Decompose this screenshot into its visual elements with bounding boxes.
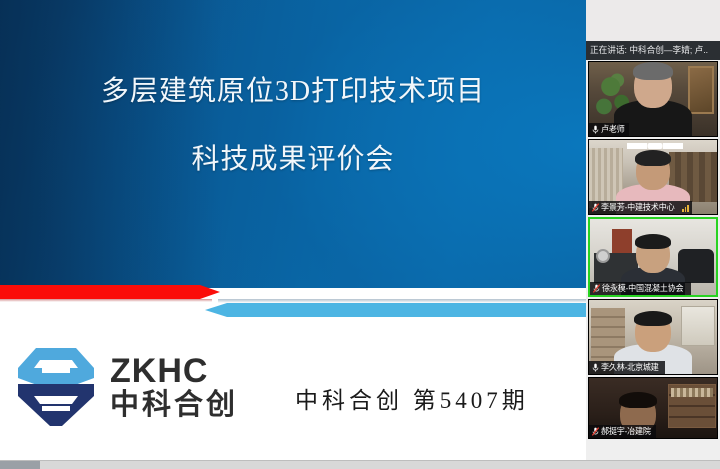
participant-name-4: 李久林-北京城建 xyxy=(601,363,659,372)
participant-name-badge-1: 卢老师 xyxy=(589,123,629,136)
red-arrow-band-shadow xyxy=(0,299,212,302)
logo-latin-text: ZKHC xyxy=(110,354,238,388)
person-hair xyxy=(633,62,673,80)
participant-name-badge-3: 徐永模-中国混凝土协会 xyxy=(590,282,691,295)
mic-muted-icon xyxy=(592,427,599,436)
participant-name-badge-2: 李景芳-中建技术中心 xyxy=(589,201,692,214)
participant-tile-1[interactable]: 卢老师 xyxy=(588,61,718,137)
person-hair xyxy=(619,392,657,408)
cyan-arrow-band xyxy=(205,303,586,317)
participant-tile-3[interactable]: 徐永模-中国混凝土协会 xyxy=(588,217,718,297)
slide-title-block: 多层建筑原位3D打印技术项目 科技成果评价会 xyxy=(0,0,586,288)
mic-muted-icon xyxy=(593,284,600,293)
participant-tile-4[interactable]: 李久林-北京城建 xyxy=(588,299,718,375)
mic-muted-icon xyxy=(592,203,599,212)
active-speaker-label: 正在讲话: 中科合创—李婧; 卢.. xyxy=(590,46,708,55)
zkhc-logo-text: ZKHC 中科合创 xyxy=(110,354,238,420)
bottom-taskbar-strip[interactable] xyxy=(0,460,720,469)
zkhc-hexagon-mark-icon xyxy=(14,344,98,430)
participant-name-5: 郝挺宇-冶建院 xyxy=(601,427,651,436)
participant-tile-2[interactable]: 李景芳-中建技术中心 xyxy=(588,139,718,215)
person-hair xyxy=(634,311,672,326)
fan-decor xyxy=(596,249,610,263)
participant-name-3: 徐永模-中国混凝土协会 xyxy=(602,284,683,293)
mic-icon xyxy=(592,125,599,134)
red-arrow-band xyxy=(0,285,220,299)
shared-slide[interactable]: 多层建筑原位3D打印技术项目 科技成果评价会 ZKHC 中科合创 xyxy=(0,0,586,460)
screen-share-meeting-window: 多层建筑原位3D打印技术项目 科技成果评价会 ZKHC 中科合创 xyxy=(0,0,720,469)
participant-name-badge-4: 李久林-北京城建 xyxy=(589,361,665,374)
cyan-arrow-band-shadow xyxy=(218,299,586,303)
audio-level-icon xyxy=(682,204,689,212)
ceiling-lights-decor xyxy=(627,143,683,149)
person-hair xyxy=(635,234,671,249)
filmstrip-top-spacer xyxy=(586,0,720,41)
wall-frame-decor xyxy=(688,66,714,114)
participant-tile-5[interactable]: 郝挺宇-冶建院 xyxy=(588,377,718,439)
taskbar-item[interactable] xyxy=(0,461,40,469)
participant-name-1: 卢老师 xyxy=(601,125,625,134)
slide-caption: 中科合创 第5407期 xyxy=(295,381,529,415)
mic-icon xyxy=(592,363,599,372)
person-hair xyxy=(635,150,671,166)
books-decor xyxy=(671,388,713,397)
participant-name-2: 李景芳-中建技术中心 xyxy=(601,203,674,212)
active-speaker-banner: 正在讲话: 中科合创—李婧; 卢.. xyxy=(586,41,720,60)
zkhc-logo: ZKHC 中科合创 xyxy=(14,344,238,430)
participant-name-badge-5: 郝挺宇-冶建院 xyxy=(589,425,656,438)
logo-chinese-text: 中科合创 xyxy=(110,390,238,420)
slide-title-line-2: 科技成果评价会 xyxy=(191,144,394,176)
participant-filmstrip[interactable]: 正在讲话: 中科合创—李婧; 卢.. 卢老师 xyxy=(586,0,720,460)
slide-title-line-1: 多层建筑原位3D打印技术项目 xyxy=(101,76,485,108)
window-decor xyxy=(681,306,715,346)
